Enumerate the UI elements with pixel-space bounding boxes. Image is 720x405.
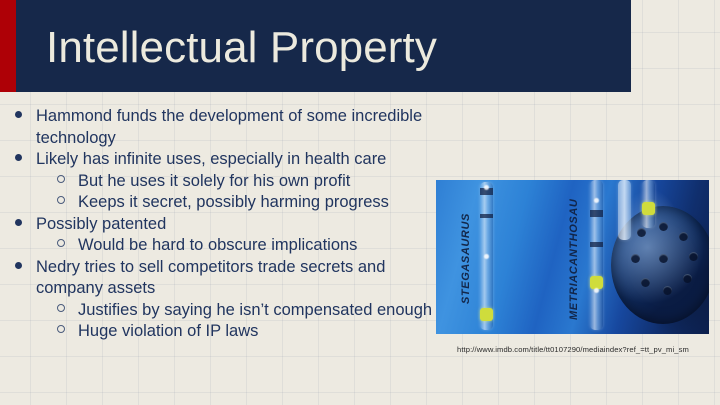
sub-list-item: But he uses it solely for his own profit [14,171,444,193]
page-title: Intellectual Property [46,21,437,75]
image-caption: http://www.imdb.com/title/tt0107290/medi… [457,345,689,355]
list-item-label: Likely has infinite uses, especially in … [36,149,444,171]
sub-list-item-label: Keeps it secret, possibly harming progre… [78,192,444,214]
sub-list-item-label: Would be hard to obscure implications [78,235,444,257]
sub-list-item: Justifies by saying he isn’t compensated… [14,300,444,322]
bullet-circle-icon [56,192,78,214]
bullet-circle-icon [56,321,78,343]
bullet-disc-icon [14,214,36,236]
sub-list-item-label: But he uses it solely for his own profit [78,171,444,193]
bullet-disc-icon [14,257,36,279]
bullet-disc-icon [14,106,36,128]
sub-list-item-label: Justifies by saying he isn’t compensated… [78,300,444,322]
accent-bar [0,0,16,92]
sub-list-item: Would be hard to obscure implications [14,235,444,257]
list-item: Hammond funds the development of some in… [14,106,444,149]
vial-label-stegasaurus: STEGASAURUS [460,213,472,304]
bullet-circle-icon [56,300,78,322]
list-item: Possibly patented [14,214,444,236]
slide-canvas: Intellectual Property Hammond funds the … [0,0,720,405]
list-item: Nedry tries to sell competitors trade se… [14,257,444,300]
sub-list-item: Huge violation of IP laws [14,321,444,343]
vial-label-metriacanthosaurus: METRIACANTHOSAU [568,199,580,320]
slide-image: STEGASAURUS METRIACANTHOSAU [436,180,709,334]
sub-list-item-label: Huge violation of IP laws [78,321,444,343]
bullet-circle-icon [56,235,78,257]
image-photo: STEGASAURUS METRIACANTHOSAU [436,180,709,334]
bullet-list: Hammond funds the development of some in… [14,106,444,343]
list-item: Likely has infinite uses, especially in … [14,149,444,171]
list-item-label: Nedry tries to sell competitors trade se… [36,257,444,300]
sub-list-item: Keeps it secret, possibly harming progre… [14,192,444,214]
list-item-label: Possibly patented [36,214,444,236]
list-item-label: Hammond funds the development of some in… [36,106,444,149]
bullet-circle-icon [56,171,78,193]
bullet-disc-icon [14,149,36,171]
